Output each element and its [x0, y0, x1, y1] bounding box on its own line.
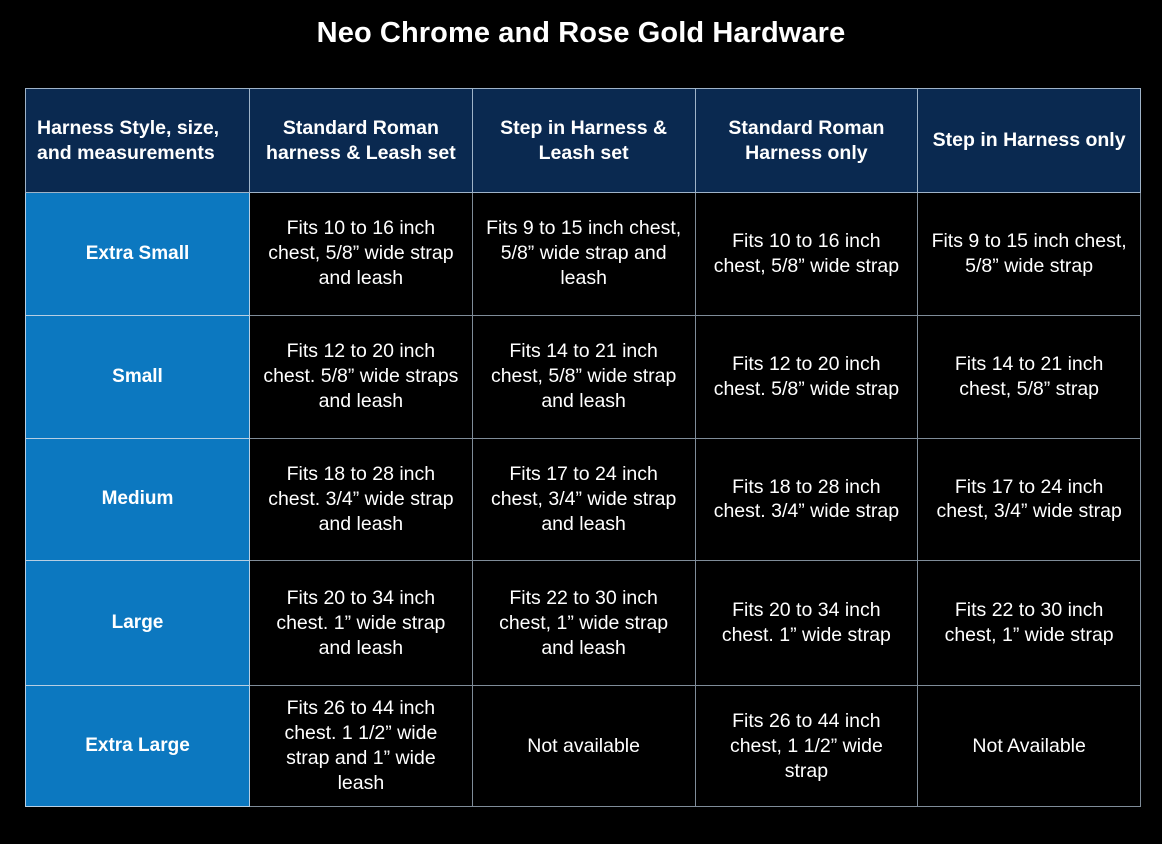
table-row: Extra Small Fits 10 to 16 inch chest, 5/… — [26, 193, 1141, 316]
table-row: Medium Fits 18 to 28 inch chest. 3/4” wi… — [26, 438, 1141, 561]
cell-extra-small-step-in-harness-only: Fits 9 to 15 inch chest, 5/8” wide strap — [918, 193, 1141, 316]
cell-extra-small-standard-roman-harness-only: Fits 10 to 16 inch chest, 5/8” wide stra… — [695, 193, 918, 316]
cell-large-standard-roman-harness-leash-set: Fits 20 to 34 inch chest. 1” wide strap … — [250, 561, 473, 686]
cell-medium-step-in-harness-only: Fits 17 to 24 inch chest, 3/4” wide stra… — [918, 438, 1141, 561]
column-header-standard-roman-harness-only: Standard Roman Harness only — [695, 89, 918, 193]
cell-extra-small-step-in-harness-leash-set: Fits 9 to 15 inch chest, 5/8” wide strap… — [472, 193, 695, 316]
cell-small-step-in-harness-leash-set: Fits 14 to 21 inch chest, 5/8” wide stra… — [472, 315, 695, 438]
table-body: Extra Small Fits 10 to 16 inch chest, 5/… — [26, 193, 1141, 807]
size-label-small: Small — [26, 315, 250, 438]
cell-extra-large-standard-roman-harness-leash-set: Fits 26 to 44 inch chest. 1 1/2” wide st… — [250, 686, 473, 807]
column-header-step-in-harness-only: Step in Harness only — [918, 89, 1141, 193]
cell-extra-large-standard-roman-harness-only: Fits 26 to 44 inch chest, 1 1/2” wide st… — [695, 686, 918, 807]
column-header-standard-roman-harness-leash-set: Standard Roman harness & Leash set — [250, 89, 473, 193]
table-row: Small Fits 12 to 20 inch chest. 5/8” wid… — [26, 315, 1141, 438]
size-label-large: Large — [26, 561, 250, 686]
cell-small-step-in-harness-only: Fits 14 to 21 inch chest, 5/8” strap — [918, 315, 1141, 438]
cell-extra-large-step-in-harness-leash-set: Not available — [472, 686, 695, 807]
cell-large-standard-roman-harness-only: Fits 20 to 34 inch chest. 1” wide strap — [695, 561, 918, 686]
cell-medium-standard-roman-harness-only: Fits 18 to 28 inch chest. 3/4” wide stra… — [695, 438, 918, 561]
cell-extra-small-standard-roman-harness-leash-set: Fits 10 to 16 inch chest, 5/8” wide stra… — [250, 193, 473, 316]
column-header-step-in-harness-leash-set: Step in Harness & Leash set — [472, 89, 695, 193]
cell-large-step-in-harness-leash-set: Fits 22 to 30 inch chest, 1” wide strap … — [472, 561, 695, 686]
size-label-extra-small: Extra Small — [26, 193, 250, 316]
cell-small-standard-roman-harness-leash-set: Fits 12 to 20 inch chest. 5/8” wide stra… — [250, 315, 473, 438]
table-row: Extra Large Fits 26 to 44 inch chest. 1 … — [26, 686, 1141, 807]
size-chart-table: Harness Style, size, and measurements St… — [25, 88, 1141, 807]
table-row: Large Fits 20 to 34 inch chest. 1” wide … — [26, 561, 1141, 686]
cell-large-step-in-harness-only: Fits 22 to 30 inch chest, 1” wide strap — [918, 561, 1141, 686]
column-header-size: Harness Style, size, and measurements — [26, 89, 250, 193]
cell-small-standard-roman-harness-only: Fits 12 to 20 inch chest. 5/8” wide stra… — [695, 315, 918, 438]
table-header: Harness Style, size, and measurements St… — [26, 89, 1141, 193]
size-chart-page: Neo Chrome and Rose Gold Hardware Harnes… — [0, 0, 1162, 844]
header-row: Harness Style, size, and measurements St… — [26, 89, 1141, 193]
size-chart-table-container: Harness Style, size, and measurements St… — [25, 88, 1140, 807]
size-label-medium: Medium — [26, 438, 250, 561]
page-title: Neo Chrome and Rose Gold Hardware — [0, 18, 1162, 50]
cell-medium-step-in-harness-leash-set: Fits 17 to 24 inch chest, 3/4” wide stra… — [472, 438, 695, 561]
cell-extra-large-step-in-harness-only: Not Available — [918, 686, 1141, 807]
cell-medium-standard-roman-harness-leash-set: Fits 18 to 28 inch chest. 3/4” wide stra… — [250, 438, 473, 561]
size-label-extra-large: Extra Large — [26, 686, 250, 807]
